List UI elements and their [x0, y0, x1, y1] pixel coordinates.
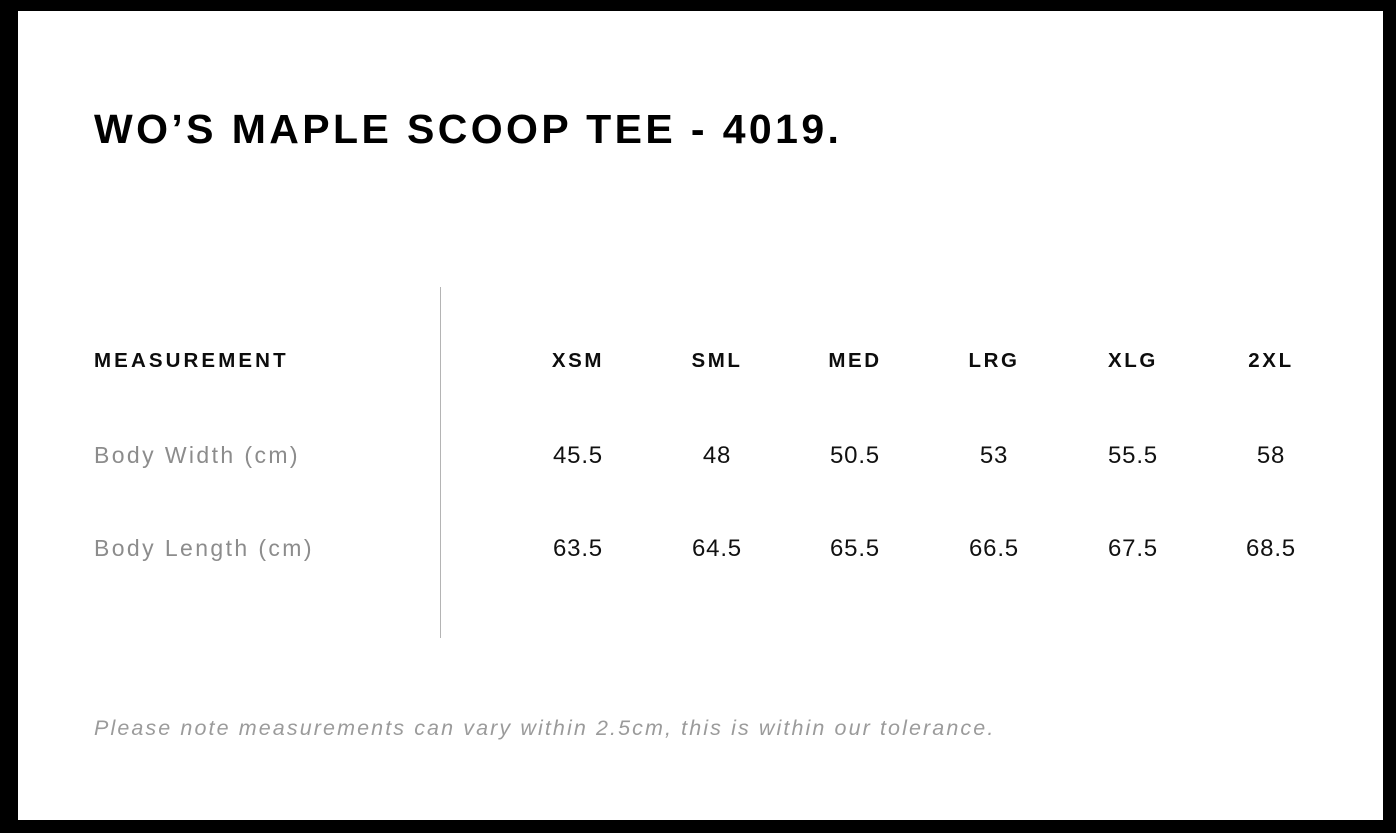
cell-body-width-xlg: 55.5 [1058, 444, 1208, 468]
page-title: WO’S MAPLE SCOOP TEE - 4019. [94, 109, 842, 150]
cell-body-length-xlg: 67.5 [1058, 537, 1208, 561]
row-label-body-length: Body Length (cm) [94, 537, 314, 560]
size-header-lrg: LRG [919, 351, 1069, 372]
cell-body-width-med: 50.5 [780, 444, 930, 468]
cell-body-width-xsm: 45.5 [503, 444, 653, 468]
size-header-sml: SML [642, 351, 792, 372]
cell-body-length-med: 65.5 [780, 537, 930, 561]
size-table: MEASUREMENT XSM SML MED LRG XLG 2XL Body… [18, 351, 1376, 630]
tolerance-note: Please note measurements can vary within… [94, 718, 995, 740]
size-header-xsm: XSM [503, 351, 653, 372]
cell-body-width-2xl: 58 [1196, 444, 1346, 468]
cell-body-length-2xl: 68.5 [1196, 537, 1346, 561]
size-chart-frame: WO’S MAPLE SCOOP TEE - 4019. MEASUREMENT… [0, 0, 1396, 833]
table-row: Body Width (cm) 45.5 48 50.5 53 55.5 58 [18, 444, 1376, 537]
table-header-row: MEASUREMENT XSM SML MED LRG XLG 2XL [18, 351, 1376, 444]
size-header-2xl: 2XL [1196, 351, 1346, 372]
size-header-xlg: XLG [1058, 351, 1208, 372]
cell-body-width-lrg: 53 [919, 444, 1069, 468]
row-label-body-width: Body Width (cm) [94, 444, 300, 467]
cell-body-length-lrg: 66.5 [919, 537, 1069, 561]
cell-body-length-xsm: 63.5 [503, 537, 653, 561]
size-header-med: MED [780, 351, 930, 372]
cell-body-length-sml: 64.5 [642, 537, 792, 561]
cell-body-width-sml: 48 [642, 444, 792, 468]
measurement-column-header: MEASUREMENT [94, 351, 289, 372]
table-row: Body Length (cm) 63.5 64.5 65.5 66.5 67.… [18, 537, 1376, 630]
size-chart-inner: WO’S MAPLE SCOOP TEE - 4019. MEASUREMENT… [18, 11, 1383, 820]
